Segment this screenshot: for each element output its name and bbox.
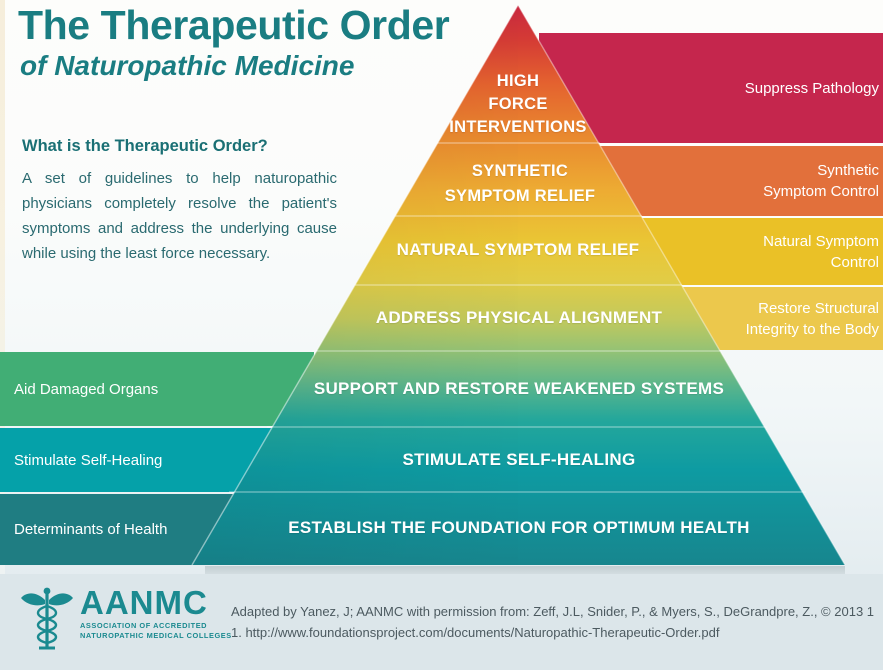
aanmc-logo[interactable]: AANMC ASSOCIATION OF ACCREDITED NATUROPA… — [18, 586, 223, 658]
right-band-label-line1: Restore Structural — [746, 298, 879, 319]
right-band-label-line1: Natural Symptom — [763, 231, 879, 252]
right-band-label-line1: Synthetic — [763, 160, 879, 181]
left-band-aid-damaged-organs: Aid Damaged Organs — [0, 352, 314, 426]
right-band-label-line2: Integrity to the Body — [746, 319, 879, 340]
page-subtitle: of Naturopathic Medicine — [20, 50, 354, 82]
pyramid-label-stimulate-self-healing: STIMULATE SELF-HEALING — [288, 450, 750, 470]
right-band-label: Suppress Pathology — [745, 78, 879, 99]
pyramid-label-address-physical-alignment: ADDRESS PHYSICAL ALIGNMENT — [330, 308, 708, 328]
left-band-label: Determinants of Health — [14, 521, 167, 538]
page-title: The Therapeutic Order — [18, 2, 449, 49]
logo-tagline-line2: NATUROPATHIC MEDICAL COLLEGES — [80, 631, 232, 640]
intro-body: A set of guidelines to help naturopathic… — [22, 166, 337, 266]
caduceus-icon — [18, 586, 76, 652]
logo-tagline-line1: ASSOCIATION OF ACCREDITED — [80, 621, 207, 630]
logo-wordmark: AANMC — [80, 584, 208, 622]
pyramid-label-establish-the-foundation-for-optimum-health: ESTABLISH THE FOUNDATION FOR OPTIMUM HEA… — [228, 518, 810, 538]
pyramid-label-synthetic-symptom-relief: SYNTHETIC SYMPTOM RELIEF — [405, 159, 635, 209]
credit-line-2: 1. http://www.foundationsproject.com/doc… — [231, 622, 879, 643]
left-band-label: Aid Damaged Organs — [14, 381, 158, 398]
intro-heading: What is the Therapeutic Order? — [22, 137, 268, 156]
left-band-label: Stimulate Self-Healing — [14, 452, 162, 469]
pyramid-label-high-force-interventions: HIGH FORCE INTERVENTIONS — [443, 70, 593, 139]
credit-line-1: Adapted by Yanez, J; AANMC with permissi… — [231, 601, 879, 622]
right-band-label-line2: Symptom Control — [763, 181, 879, 202]
left-band-stimulate-self-healing: Stimulate Self-Healing — [0, 428, 314, 492]
right-band-label-line2: Control — [763, 252, 879, 273]
pyramid-label-natural-symptom-relief: NATURAL SYMPTOM RELIEF — [368, 240, 668, 260]
pyramid-label-support-and-restore-weakened-systems: SUPPORT AND RESTORE WEAKENED SYSTEMS — [268, 379, 770, 399]
infographic-canvas: Suppress Pathology Synthetic Symptom Con… — [0, 0, 883, 670]
credit-text: Adapted by Yanez, J; AANMC with permissi… — [231, 601, 879, 643]
